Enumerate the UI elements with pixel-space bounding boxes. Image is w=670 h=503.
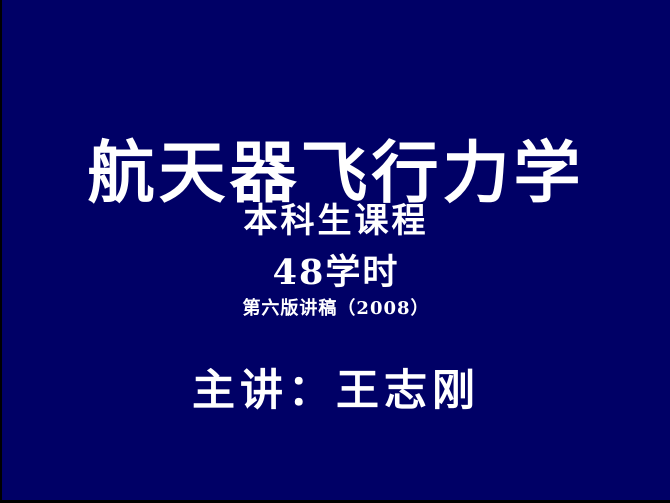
subtitle-course-hours: 48学时 xyxy=(2,254,670,293)
subtitle-edition-year: 第六版讲稿（2008） xyxy=(2,299,670,319)
presentation-slide: 航天器飞行力学 本科生课程 48学时 第六版讲稿（2008） 主讲：王志刚 xyxy=(0,0,670,503)
subtitle-course-level: 本科生课程 xyxy=(2,203,670,240)
slide-title: 航天器飞行力学 xyxy=(2,137,670,209)
slide-content-area: 航天器飞行力学 本科生课程 48学时 第六版讲稿（2008） 主讲：王志刚 xyxy=(2,0,670,500)
presenter-name: 主讲：王志刚 xyxy=(2,368,670,415)
